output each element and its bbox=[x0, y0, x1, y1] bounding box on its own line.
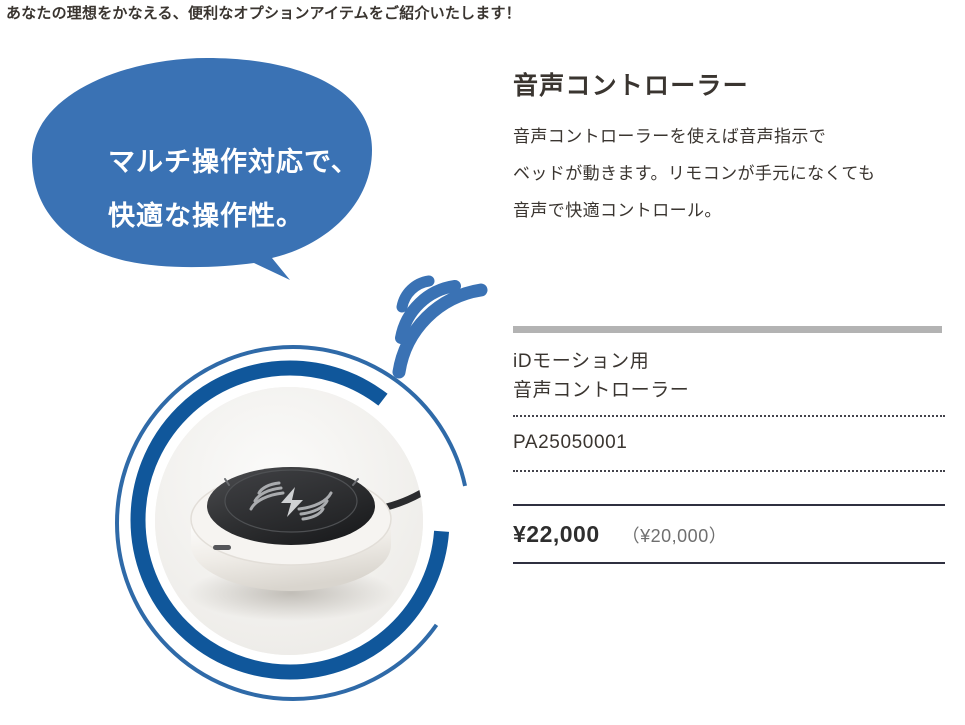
price-main: ¥22,000 bbox=[513, 521, 600, 548]
voice-controller-device-illustration bbox=[155, 387, 423, 655]
spec-product-name-line-2: 音声コントローラー bbox=[513, 376, 945, 405]
product-image-block bbox=[95, 325, 495, 725]
visual-column: マルチ操作対応で、 快適な操作性。 bbox=[0, 40, 500, 688]
product-description: 音声コントローラーを使えば音声指示で ベッドが動きます。リモコンが手元になくても… bbox=[513, 118, 953, 229]
description-line-2: ベッドが動きます。リモコンが手元になくても bbox=[513, 155, 953, 192]
bubble-line-1: マルチ操作対応で、 bbox=[108, 135, 408, 189]
spec-product-name-line-1: iDモーション用 bbox=[513, 347, 945, 376]
price-row: ¥22,000 （¥20,000） bbox=[513, 506, 945, 562]
bubble-line-2: 快適な操作性。 bbox=[108, 189, 408, 243]
spec-product-name: iDモーション用 音声コントローラー bbox=[513, 333, 945, 415]
voice-controller-photo bbox=[155, 387, 423, 655]
price-secondary: （¥20,000） bbox=[622, 522, 728, 548]
spec-spacer bbox=[513, 472, 945, 504]
description-line-1: 音声コントローラーを使えば音声指示で bbox=[513, 118, 953, 155]
spec-table-top-bar bbox=[513, 326, 942, 333]
page-lead-text: あなたの理想をかなえる、便利なオプションアイテムをご紹介いたします！ bbox=[6, 2, 521, 23]
speech-bubble: マルチ操作対応で、 快適な操作性。 bbox=[0, 40, 500, 290]
spec-model-number: PA25050001 bbox=[513, 417, 945, 470]
description-line-3: 音声で快適コントロール。 bbox=[513, 192, 953, 229]
price-rule-bottom bbox=[513, 562, 945, 564]
speech-bubble-text: マルチ操作対応で、 快適な操作性。 bbox=[108, 135, 408, 243]
product-spec-table: iDモーション用 音声コントローラー PA25050001 ¥22,000 （¥… bbox=[513, 326, 945, 564]
product-title: 音声コントローラー bbox=[513, 66, 749, 102]
